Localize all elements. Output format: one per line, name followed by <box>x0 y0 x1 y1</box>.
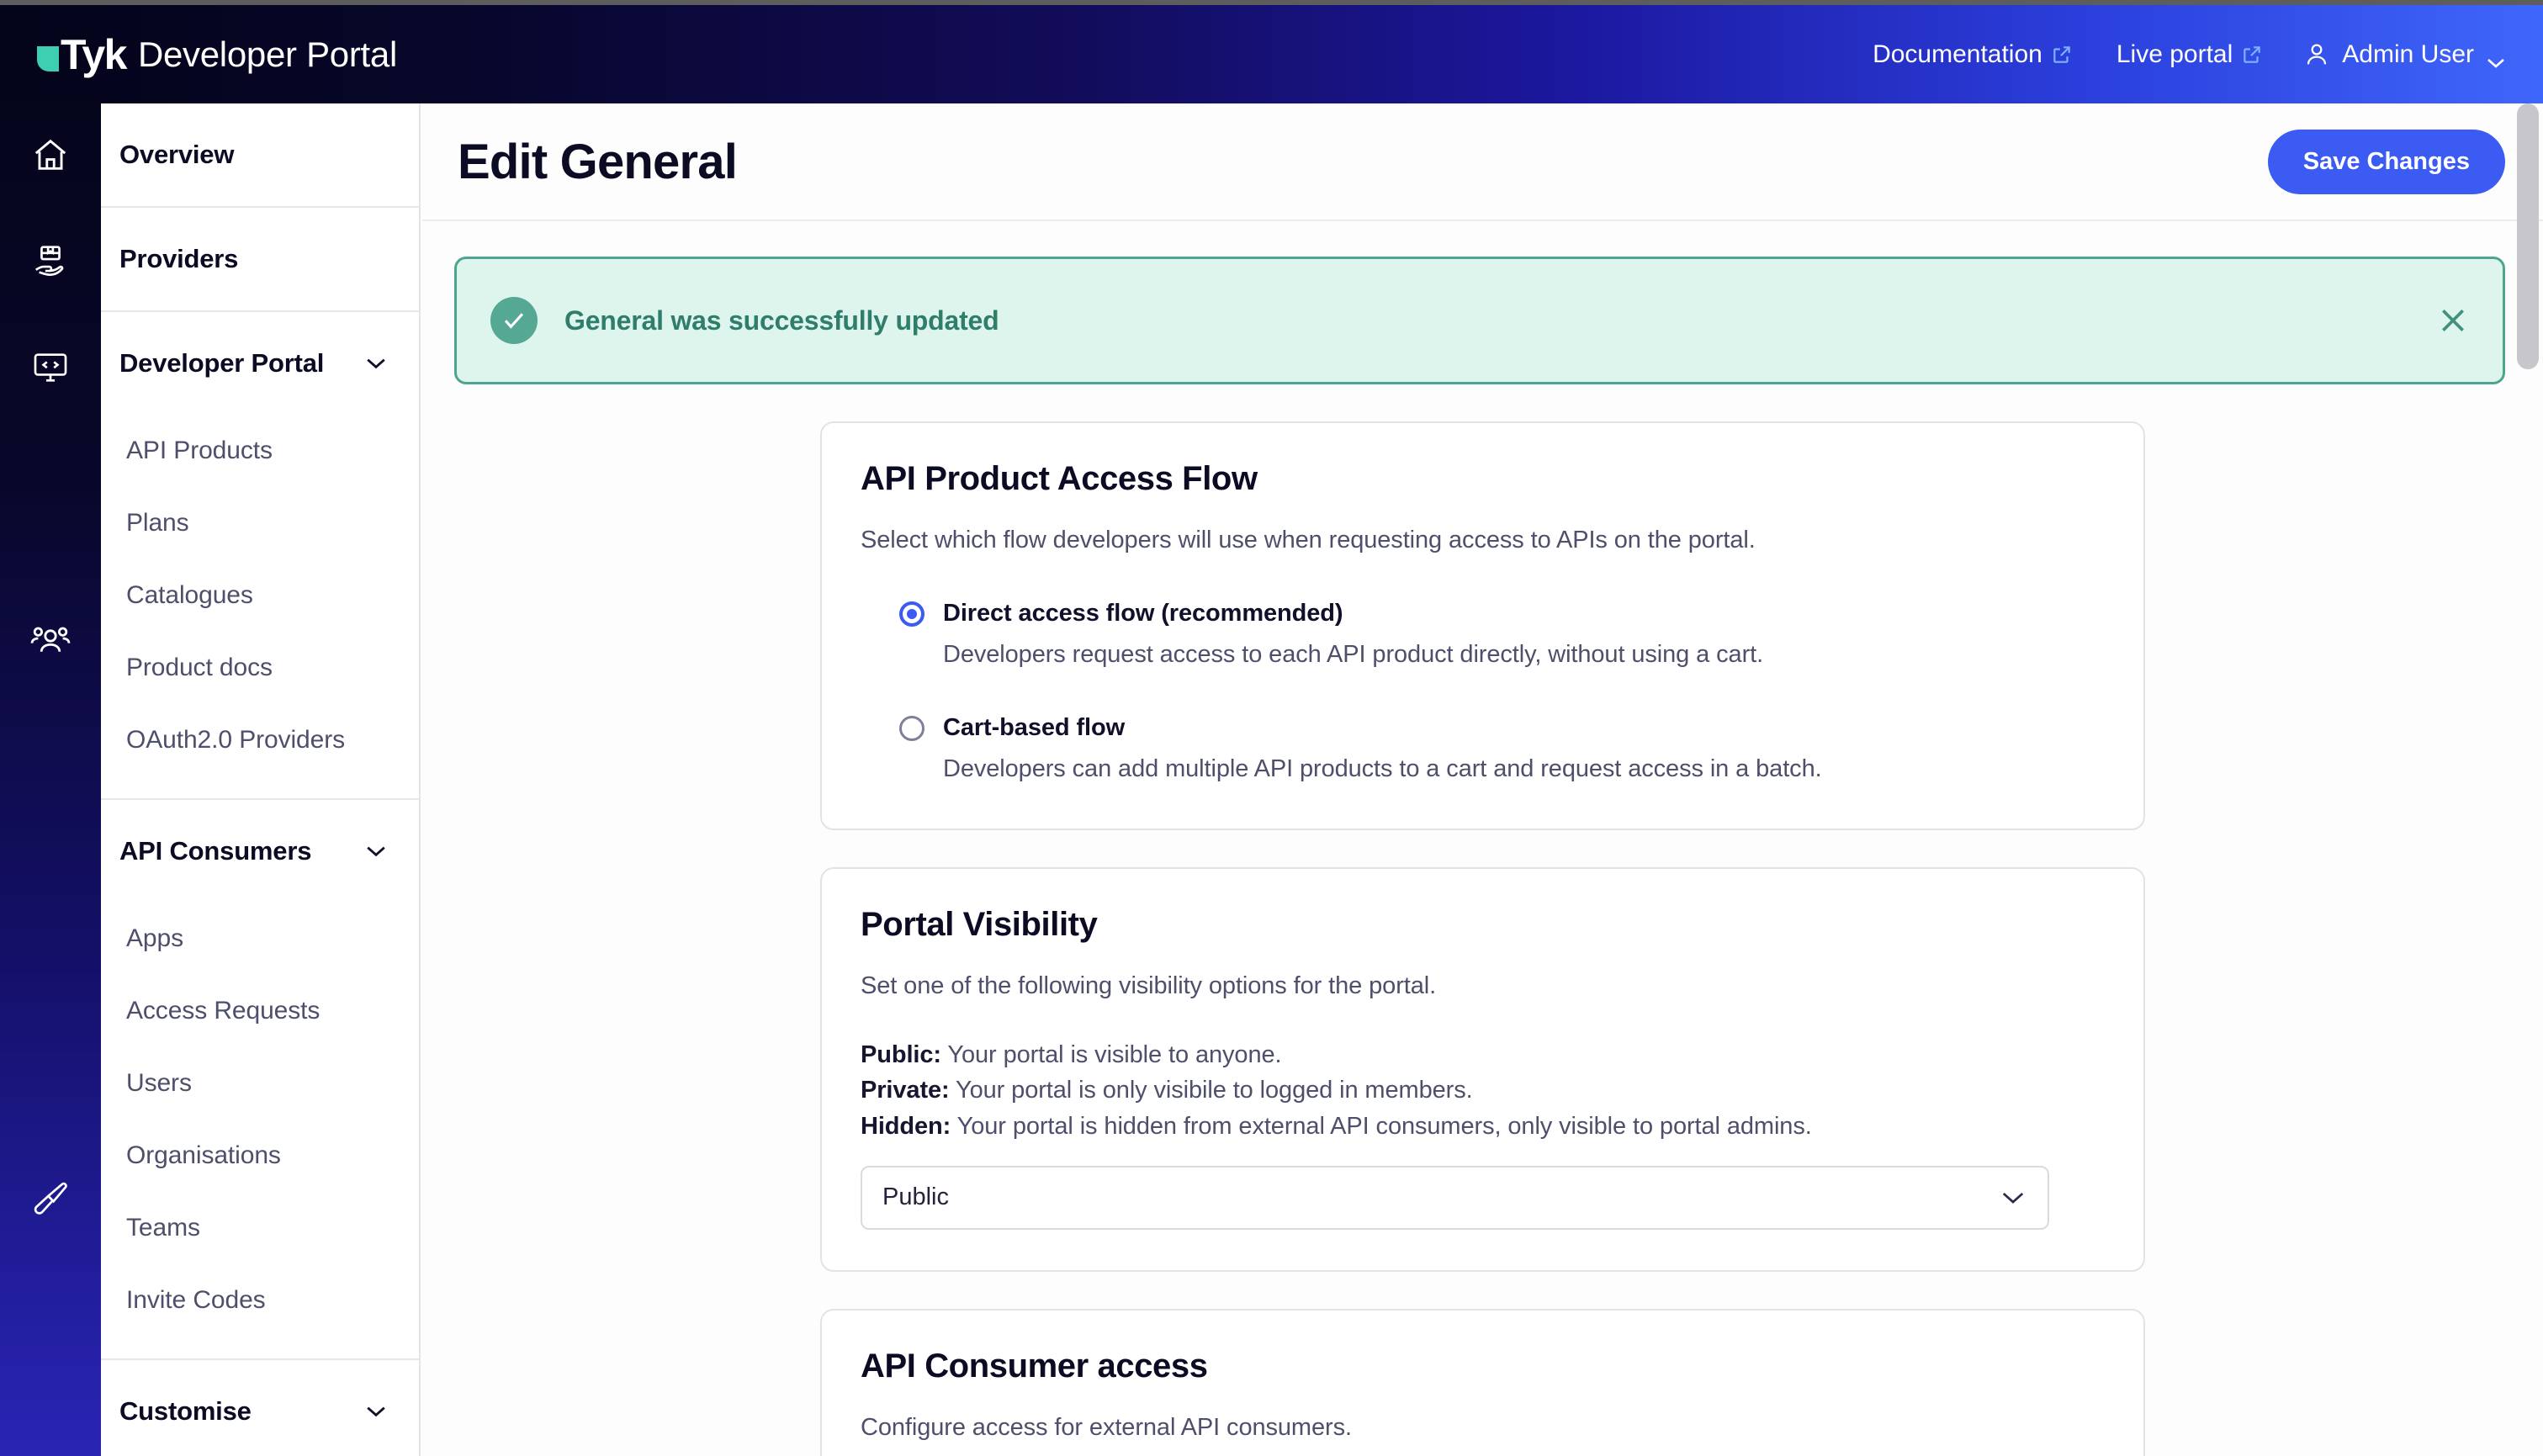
external-link-icon <box>2051 44 2073 66</box>
brand-mark: Tyk <box>61 34 126 76</box>
sidebar-group-customise: Customise Themes <box>101 1360 419 1456</box>
tyk-leaf-icon <box>37 46 59 71</box>
visibility-text: Your portal is hidden from external API … <box>951 1113 1811 1140</box>
sidebar-group-developer-portal: Developer Portal API Products Plans Cata… <box>101 312 419 800</box>
radio-cart-based-flow[interactable] <box>899 716 924 741</box>
tyk-logo-icon: Tyk <box>37 31 126 78</box>
page-title: Edit General <box>458 134 737 190</box>
card-description: Select which flow developers will use wh… <box>861 527 2105 554</box>
sidebar-group-providers: Providers <box>101 208 419 312</box>
package-hand-icon[interactable] <box>24 234 77 288</box>
card-api-consumer-access: API Consumer access Configure access for… <box>820 1309 2145 1456</box>
close-icon[interactable] <box>2434 301 2472 340</box>
sidebar-item-access-requests[interactable]: Access Requests <box>101 975 419 1047</box>
visibility-legend: Public: Your portal is visible to anyone… <box>861 1037 2105 1144</box>
sidebar-item-customise[interactable]: Customise <box>101 1360 419 1456</box>
radio-option-cart-based-flow[interactable]: Cart-based flow Developers can add multi… <box>899 714 2105 783</box>
radio-label: Direct access flow (recommended) <box>943 600 1343 627</box>
sidebar-item-users[interactable]: Users <box>101 1047 419 1120</box>
sidebar-item-apps[interactable]: Apps <box>101 903 419 975</box>
person-icon <box>2303 40 2330 69</box>
chevron-down-icon <box>365 844 387 858</box>
settings-cards: API Product Access Flow Select which flo… <box>422 384 2543 1456</box>
card-description: Set one of the following visibility opti… <box>861 972 2105 1000</box>
card-description: Configure access for external API consum… <box>861 1414 2105 1442</box>
sidebar-group-label: API Consumers <box>119 836 311 866</box>
sidebar-item-api-products[interactable]: API Products <box>101 415 419 487</box>
radio-description: Developers can add multiple API products… <box>943 755 2105 783</box>
sidebar-item-oauth2-providers[interactable]: OAuth2.0 Providers <box>101 704 419 776</box>
home-icon[interactable] <box>24 129 77 183</box>
visibility-text: Your portal is only visibile to logged i… <box>950 1077 1473 1104</box>
card-title: API Product Access Flow <box>861 460 2105 498</box>
scrollbar-thumb[interactable] <box>2517 103 2539 369</box>
header-nav: Documentation Live portal Admin User <box>1851 40 2506 69</box>
visibility-line-private: Private: Your portal is only visibile to… <box>861 1072 2105 1108</box>
sidebar-group-api-consumers: API Consumers Apps Access Requests Users… <box>101 800 419 1360</box>
sidebar-item-plans[interactable]: Plans <box>101 487 419 559</box>
sidebar-spacer <box>101 1337 419 1358</box>
card-title: API Consumer access <box>861 1347 2105 1385</box>
sidebar-item-providers[interactable]: Providers <box>101 208 419 310</box>
sidebar-group-label: Providers <box>119 244 238 274</box>
nav-live-portal[interactable]: Live portal <box>2095 40 2285 69</box>
nav-documentation[interactable]: Documentation <box>1851 40 2095 69</box>
chevron-down-icon <box>365 357 387 370</box>
nav-documentation-label: Documentation <box>1873 40 2042 69</box>
success-alert-message: General was successfully updated <box>564 305 999 336</box>
chevron-down-icon <box>365 1405 387 1418</box>
success-alert: General was successfully updated <box>454 257 2505 384</box>
chevron-down-icon <box>2486 48 2506 61</box>
radio-description: Developers request access to each API pr… <box>943 641 2105 669</box>
sidebar-group-label: Developer Portal <box>119 348 324 379</box>
main-content: Edit General Save Changes General was su… <box>422 103 2543 1456</box>
chevron-down-icon <box>2000 1189 2026 1206</box>
save-changes-button[interactable]: Save Changes <box>2268 130 2505 194</box>
sidebar-group-label: Customise <box>119 1396 252 1427</box>
nav-live-portal-label: Live portal <box>2117 40 2233 69</box>
sidebar-item-teams[interactable]: Teams <box>101 1192 419 1264</box>
external-link-icon <box>2241 44 2263 66</box>
portal-visibility-select-value: Public <box>882 1183 949 1211</box>
radio-direct-access-flow[interactable] <box>899 601 924 627</box>
card-api-product-access-flow: API Product Access Flow Select which flo… <box>820 421 2145 830</box>
monitor-code-icon[interactable] <box>24 341 77 394</box>
sidebar-group-overview: Overview <box>101 103 419 208</box>
radio-option-direct-access-flow[interactable]: Direct access flow (recommended) Develop… <box>899 600 2105 669</box>
user-menu[interactable]: Admin User <box>2285 40 2506 69</box>
brand-name: Developer Portal <box>138 34 397 75</box>
portal-visibility-select[interactable]: Public <box>861 1166 2049 1230</box>
visibility-term: Public: <box>861 1041 941 1068</box>
sidebar-item-organisations[interactable]: Organisations <box>101 1120 419 1192</box>
card-portal-visibility: Portal Visibility Set one of the followi… <box>820 867 2145 1272</box>
page-header: Edit General Save Changes <box>422 103 2543 221</box>
sidebar-item-overview[interactable]: Overview <box>101 103 419 206</box>
visibility-text: Your portal is visible to anyone. <box>941 1041 1281 1068</box>
visibility-term: Private: <box>861 1077 950 1104</box>
sidebar-item-developer-portal[interactable]: Developer Portal <box>101 312 419 415</box>
user-name: Admin User <box>2342 40 2474 69</box>
sidebar-group-label: Overview <box>119 140 234 170</box>
sidebar-item-api-consumers[interactable]: API Consumers <box>101 800 419 903</box>
paintbrush-icon[interactable] <box>24 1172 77 1226</box>
visibility-term: Hidden: <box>861 1113 951 1140</box>
brand-logo[interactable]: Tyk Developer Portal <box>37 31 397 78</box>
sidebar-item-invite-codes[interactable]: Invite Codes <box>101 1264 419 1337</box>
sidebar-item-product-docs[interactable]: Product docs <box>101 632 419 704</box>
visibility-line-hidden: Hidden: Your portal is hidden from exter… <box>861 1109 2105 1144</box>
app-header: Tyk Developer Portal Documentation Live … <box>0 5 2543 103</box>
icon-rail <box>0 103 101 1456</box>
access-flow-radio-group: Direct access flow (recommended) Develop… <box>861 600 2105 783</box>
check-circle-icon <box>490 297 538 344</box>
sidebar-item-catalogues[interactable]: Catalogues <box>101 559 419 632</box>
users-group-icon[interactable] <box>24 612 77 666</box>
card-title: Portal Visibility <box>861 906 2105 944</box>
secondary-sidebar: Overview Providers Developer Portal API … <box>101 103 421 1456</box>
radio-label: Cart-based flow <box>943 714 1125 742</box>
visibility-line-public: Public: Your portal is visible to anyone… <box>861 1037 2105 1072</box>
page-scrollbar[interactable] <box>2513 103 2543 1456</box>
sidebar-spacer <box>101 776 419 798</box>
